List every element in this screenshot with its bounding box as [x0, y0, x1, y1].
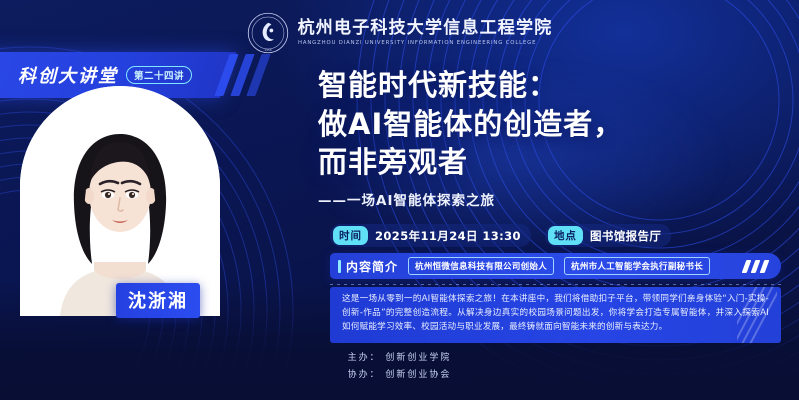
- footer-block: 主办： 创新创业学院 协办： 创新创业协会: [0, 350, 799, 384]
- speaker-credential-2: 杭州市人工智能学会执行副秘书长: [564, 257, 710, 275]
- event-time-label: 时间: [333, 226, 368, 245]
- dashed-divider: [330, 284, 781, 285]
- event-location-label: 地点: [548, 226, 583, 245]
- lecture-session-badge: 第二十四讲: [126, 66, 192, 84]
- title-subtitle: ——一场AI智能体探索之旅: [318, 189, 785, 209]
- intro-label-text: 内容简介: [346, 258, 398, 275]
- speaker-portrait: [20, 86, 220, 316]
- university-header: 1956 杭州电子科技大学信息工程学院 HANGZHOU DIANZI UNIV…: [0, 12, 799, 54]
- organizer-text: 主办： 创新创业学院: [0, 350, 799, 367]
- university-name-cn: 杭州电子科技大学信息工程学院: [298, 20, 553, 38]
- title-line-2: 做AI智能体的创造者，: [318, 105, 785, 144]
- co-organizer-text: 协办： 创新创业协会: [0, 367, 799, 384]
- speaker-credential-1: 杭州恒微信息科技有限公司创始人: [408, 257, 554, 275]
- university-seal-icon: 1956: [247, 12, 289, 54]
- event-poster: 1956 杭州电子科技大学信息工程学院 HANGZHOU DIANZI UNIV…: [0, 0, 799, 400]
- intro-slash-decoration: [742, 260, 776, 273]
- description-slash-decoration: [737, 287, 777, 343]
- title-line-3: 而非旁观者: [318, 143, 785, 182]
- title-line-1: 智能时代新技能：: [318, 66, 785, 105]
- event-location-pill: 地点 图书馆报告厅: [545, 224, 671, 247]
- speaker-photo-block: [20, 86, 220, 316]
- intro-label: 内容简介: [338, 258, 398, 275]
- event-location-value: 图书馆报告厅: [590, 228, 661, 244]
- description-panel: 这是一场从零到一的AI智能体探索之旅！在本讲座中，我们将借助扣子平台，带领同学们…: [330, 287, 781, 343]
- speaker-name-tag: 沈浙湘: [116, 283, 200, 318]
- title-block: 智能时代新技能： 做AI智能体的创造者， 而非旁观者 ——一场AI智能体探索之旅: [318, 66, 785, 209]
- lecture-series-title: 科创大讲堂: [18, 62, 118, 88]
- event-time-value: 2025年11月24日 13:30: [375, 228, 521, 244]
- intro-accent-bar-icon: [338, 260, 341, 273]
- svg-text:1956: 1956: [264, 48, 272, 52]
- event-time-pill: 时间 2025年11月24日 13:30: [330, 224, 531, 247]
- description-text: 这是一场从零到一的AI智能体探索之旅！在本讲座中，我们将借助扣子平台，带领同学们…: [342, 293, 769, 335]
- university-name-en: HANGZHOU DIANZI UNIVERSITY INFORMATION E…: [298, 40, 558, 46]
- intro-bar: 内容简介 杭州恒微信息科技有限公司创始人 杭州市人工智能学会执行副秘书长: [330, 253, 781, 279]
- event-meta-row: 时间 2025年11月24日 13:30 地点 图书馆报告厅: [330, 224, 671, 247]
